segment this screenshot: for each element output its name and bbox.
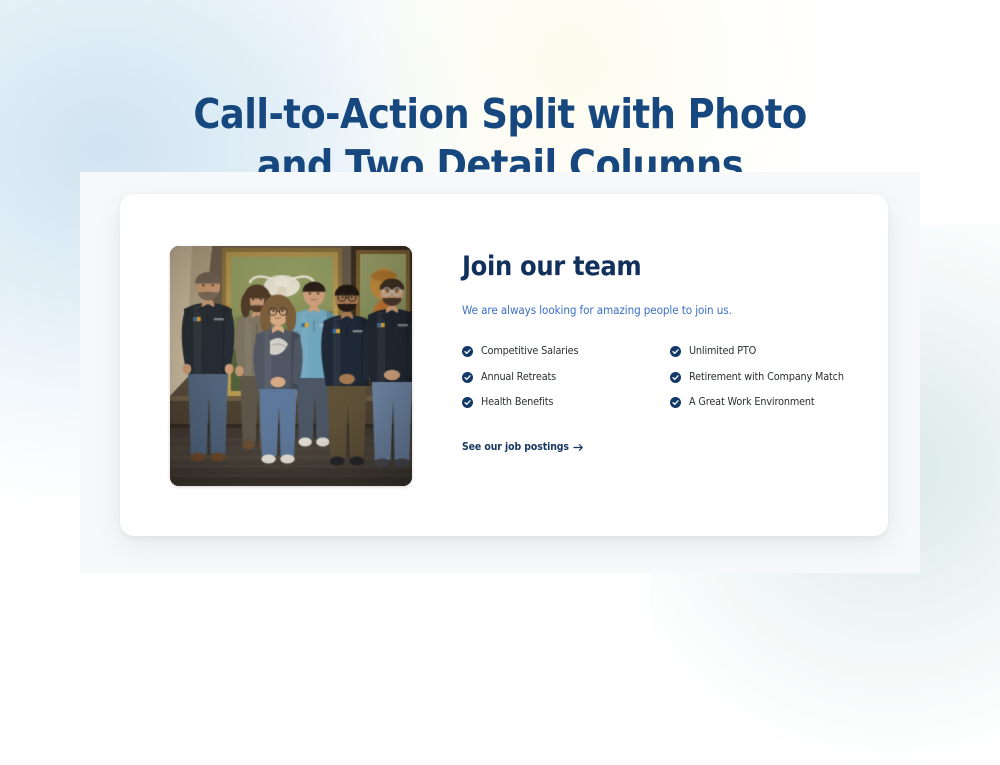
benefit-label: Unlimited PTO [689,345,756,357]
check-circle-icon [670,346,681,357]
benefit-label: Health Benefits [481,396,553,408]
check-circle-icon [670,397,681,408]
benefit-item: Competitive Salaries [462,345,670,371]
cta-subtitle: We are always looking for amazing people… [462,303,825,318]
team-photo-image [170,246,412,486]
team-photo [170,246,412,486]
benefits-list: Competitive Salaries Annual Retreats Hea… [462,345,852,422]
check-circle-icon [670,372,681,383]
check-circle-icon [462,372,473,383]
benefit-label: Annual Retreats [481,371,556,383]
benefit-item: Unlimited PTO [670,345,878,371]
check-circle-icon [462,397,473,408]
arrow-right-icon [573,443,583,452]
benefit-item: A Great Work Environment [670,396,878,422]
check-circle-icon [462,346,473,357]
benefit-item: Annual Retreats [462,371,670,397]
benefit-label: Competitive Salaries [481,345,578,357]
benefit-label: A Great Work Environment [689,396,815,408]
cta-content: Join our team We are always looking for … [462,252,852,455]
cta-heading: Join our team [462,252,813,282]
job-postings-link-label: See our job postings [462,442,569,453]
cta-card: Join our team We are always looking for … [120,194,888,536]
benefit-item: Health Benefits [462,396,670,422]
job-postings-link[interactable]: See our job postings [462,442,584,453]
benefit-label: Retirement with Company Match [689,371,844,383]
benefit-item: Retirement with Company Match [670,371,878,397]
